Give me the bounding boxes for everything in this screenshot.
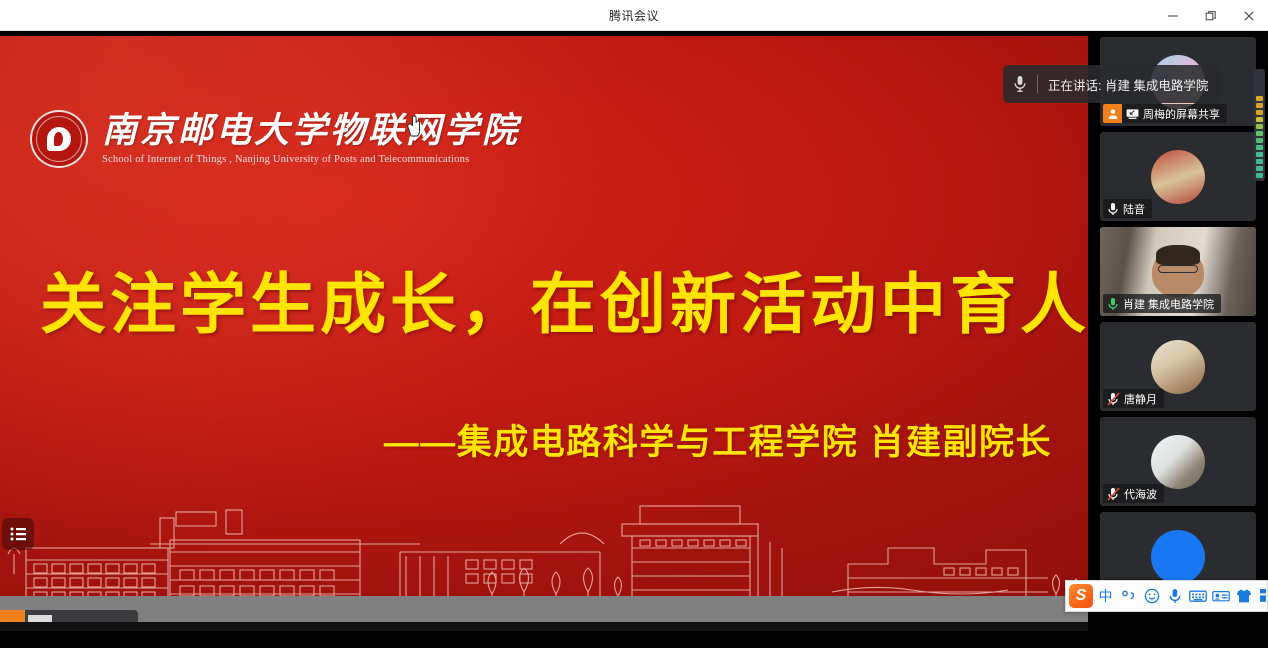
participant-tile[interactable]: 代海波 <box>1100 417 1256 506</box>
ime-voice-input-button[interactable] <box>1164 583 1185 609</box>
microphone-muted-icon <box>1107 392 1120 406</box>
participant-rail[interactable]: 周梅的屏幕共享 陆音 <box>1088 31 1268 648</box>
close-icon <box>1243 10 1255 22</box>
speaking-toast-text: 正在讲话: 肖建 集成电路学院; <box>1048 75 1208 94</box>
window-title: 腾讯会议 <box>609 7 659 24</box>
close-button[interactable] <box>1230 0 1268 31</box>
shirt-icon <box>1236 588 1252 604</box>
emoji-icon <box>1144 588 1160 604</box>
level-segment <box>1256 124 1263 129</box>
logo-chinese-name: 南京邮电大学物联网学院 <box>102 113 520 150</box>
slide-bottom-letterbox <box>0 596 1088 622</box>
avatar <box>1151 435 1205 489</box>
university-emblem-icon <box>30 110 88 168</box>
shared-screen-stage[interactable]: 南京邮电大学物联网学院 School of Internet of Things… <box>0 31 1088 631</box>
participant-name: 代海波 <box>1124 486 1157 502</box>
level-segment <box>1256 117 1263 122</box>
taskbar-fragment-orange <box>0 610 25 622</box>
screen-share-icon <box>1126 108 1139 120</box>
speaking-toast: 正在讲话: 肖建 集成电路学院; <box>1003 65 1222 103</box>
participant-tile[interactable]: 唐静月 <box>1100 322 1256 411</box>
sogou-ime-toolbar[interactable]: S 中 <box>1065 580 1268 612</box>
ime-handwriting-button[interactable] <box>1210 583 1231 609</box>
ime-toolbox-button[interactable] <box>1256 583 1268 609</box>
participant-tile[interactable]: 陆音 <box>1100 132 1256 221</box>
participant-label: 陆音 <box>1103 199 1152 218</box>
host-badge-icon <box>1103 104 1122 123</box>
participant-name: 唐静月 <box>1124 391 1157 407</box>
level-segment <box>1256 138 1263 143</box>
ime-punctuation-button[interactable] <box>1118 583 1139 609</box>
presentation-slide: 南京邮电大学物联网学院 School of Internet of Things… <box>0 36 1088 622</box>
level-segment <box>1256 96 1263 101</box>
sogou-logo-icon[interactable]: S <box>1069 584 1093 608</box>
participant-tile[interactable]: 肖建 集成电路学院 <box>1100 227 1256 316</box>
university-logo: 南京邮电大学物联网学院 School of Internet of Things… <box>30 110 520 168</box>
microphone-icon <box>1107 202 1119 216</box>
taskbar-fragment <box>0 610 138 622</box>
slide-subline: ——集成电路科学与工程学院 肖建副院长 <box>40 414 1060 465</box>
level-segment <box>1256 131 1263 136</box>
participant-label: 唐静月 <box>1103 389 1164 408</box>
slide-headline: 关注学生成长，在创新活动中育人 <box>40 268 1050 342</box>
microphone-icon-active <box>1107 297 1119 311</box>
grid-icon <box>1259 588 1268 604</box>
punctuation-icon <box>1121 589 1137 603</box>
minimize-button[interactable] <box>1154 0 1192 31</box>
slide-list-button[interactable] <box>2 518 34 550</box>
restore-button[interactable] <box>1192 0 1230 31</box>
logo-text-group: 南京邮电大学物联网学院 School of Internet of Things… <box>102 113 520 165</box>
level-segment <box>1256 145 1263 150</box>
participant-name: 肖建 集成电路学院 <box>1123 296 1214 312</box>
level-segment <box>1256 166 1263 171</box>
participant-label: 周梅的屏幕共享 <box>1103 104 1227 123</box>
level-segment <box>1256 103 1263 108</box>
participant-label: 代海波 <box>1103 484 1164 503</box>
audio-level-meter <box>1254 69 1265 181</box>
minimize-icon <box>1167 10 1179 22</box>
window-controls <box>1154 0 1268 31</box>
ime-language-mode-button[interactable]: 中 <box>1095 583 1116 609</box>
level-segment <box>1256 173 1263 178</box>
ime-emoji-button[interactable] <box>1141 583 1162 609</box>
level-segment <box>1256 110 1263 115</box>
level-segment <box>1256 152 1263 157</box>
avatar <box>1151 340 1205 394</box>
participant-label: 肖建 集成电路学院 <box>1103 294 1221 313</box>
participant-name: 陆音 <box>1123 201 1145 217</box>
list-icon <box>10 527 27 541</box>
participant-name: 周梅的屏幕共享 <box>1143 106 1220 122</box>
toast-divider <box>1037 75 1038 93</box>
ime-skin-button[interactable] <box>1233 583 1254 609</box>
taskbar-fragment-white <box>28 615 52 622</box>
tencent-meeting-window: 腾讯会议 <box>0 0 1268 648</box>
logo-english-name: School of Internet of Things , Nanjing U… <box>102 154 520 165</box>
restore-icon <box>1205 10 1217 22</box>
avatar <box>1151 530 1205 584</box>
microphone-icon <box>1013 75 1027 93</box>
avatar <box>1151 150 1205 204</box>
keyboard-icon <box>1189 589 1207 603</box>
microphone-muted-icon <box>1107 487 1120 501</box>
ime-soft-keyboard-button[interactable] <box>1187 583 1208 609</box>
level-segment <box>1256 159 1263 164</box>
id-card-icon <box>1212 589 1230 603</box>
microphone-icon <box>1168 588 1182 604</box>
window-titlebar: 腾讯会议 <box>0 0 1268 31</box>
